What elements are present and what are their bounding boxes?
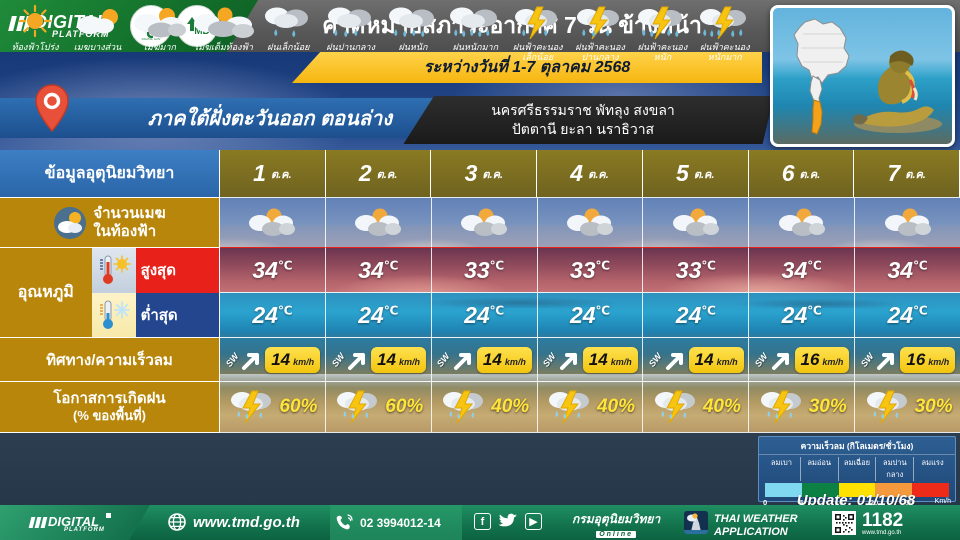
cloud-row-label: จำนวนเมฆ ในท้องฟ้า <box>0 197 220 247</box>
min-temp-value: 24℃ <box>464 302 504 329</box>
wind-direction: SW <box>859 351 876 369</box>
min-temp-value: 24℃ <box>358 302 398 329</box>
min-temperature-row: 24℃ 24℃ 24℃ 24℃ 24℃ 24℃ 24℃ <box>0 292 960 337</box>
day-month: ต.ค. <box>905 165 926 183</box>
region-photo-card <box>770 5 955 147</box>
legend-label: ฝนฟ้าคะนอง ปานกลาง <box>575 42 625 63</box>
max-temp-cells: 34℃ 34℃ 33℃ 33℃ 33℃ 34℃ 34℃ <box>220 247 960 292</box>
wind-speed-value: 14 <box>589 350 608 370</box>
cloud-label-line-1: จำนวนเมฆ <box>93 205 165 222</box>
cloud-label-text: จำนวนเมฆ ในท้องฟ้า <box>93 205 165 240</box>
rain-cell: 40% <box>643 381 749 433</box>
thai-weather-app-icon <box>684 511 708 534</box>
wind-direction: SW <box>329 351 346 369</box>
rain-probability-value: 60% <box>279 396 317 418</box>
overcast-icon <box>191 2 257 42</box>
mostly-cloudy-icon <box>243 206 301 240</box>
legend-item: เมฆเต็มท้องฟ้า <box>191 2 257 70</box>
min-temp-value: 24℃ <box>676 302 716 329</box>
min-temp-value: 24℃ <box>782 302 822 329</box>
thunderstorm-icon <box>545 386 595 428</box>
location-pin-icon <box>34 84 70 132</box>
wind-speed-unit: km/h <box>822 357 843 367</box>
footer-brand-square-icon <box>106 513 111 518</box>
mostly-cloudy-icon <box>879 206 937 240</box>
legend-item: ฝนหนัก <box>382 2 444 70</box>
globe-icon <box>168 513 186 531</box>
very-heavy-thunderstorm-icon <box>695 2 755 42</box>
sun-icon <box>15 2 55 42</box>
day-month: ต.ค. <box>588 165 609 183</box>
legend-label: ฝนปานกลาง <box>326 42 375 52</box>
wind-speed-value: 16 <box>801 350 820 370</box>
wind-arrow-icon <box>346 348 370 372</box>
wind-speed-value: 14 <box>483 350 502 370</box>
phone-icon <box>334 513 354 533</box>
day-header-cell: 4 ต.ค. <box>537 150 643 197</box>
day-number: 7 <box>887 160 900 187</box>
footer-hotline-number: 1182 <box>862 511 903 530</box>
wind-scale-category: ลมเฉื่อย <box>839 457 877 481</box>
legend-label: ฝนฟ้าคะนอง เล็กน้อย <box>513 42 563 63</box>
wind-arrow-icon <box>664 348 688 372</box>
twitter-icon[interactable] <box>498 513 518 530</box>
wind-arrow-icon <box>770 348 794 372</box>
cloud-cell <box>432 197 538 247</box>
wind-cell: SW 14km/h <box>326 337 432 381</box>
footer-hotline: 1182 www.tmd.go.th <box>862 511 903 536</box>
mostly-cloudy-icon <box>349 206 407 240</box>
footer-phone-text: 02 3994012-14 <box>360 516 441 530</box>
partly-cloudy-icon <box>70 2 126 42</box>
wind-row: ทิศทาง/ความเร็วลม SW 14km/h SW 14km/h SW… <box>0 337 960 381</box>
legend-item: ฝนฟ้าคะนอง หนักมาก <box>694 2 756 70</box>
youtube-icon[interactable]: ▶ <box>525 513 542 530</box>
max-temp-cell: 33℃ <box>538 247 644 292</box>
legend-label: ฝนฟ้าคะนอง หนักมาก <box>700 42 750 63</box>
wind-speed-pill: 14km/h <box>371 347 426 373</box>
wind-speed-unit: km/h <box>717 357 738 367</box>
legend-label: ท้องฟ้าโปร่ง <box>12 42 59 52</box>
cloud-cell <box>326 197 432 247</box>
rain-probability-value: 30% <box>915 396 953 418</box>
light-rain-icon <box>260 2 316 42</box>
wind-direction: SW <box>224 351 241 369</box>
max-temp-value: 34℃ <box>252 257 292 284</box>
provinces-line-2: ปัตตานี ยะลา นราธิวาส <box>512 120 654 139</box>
rain-cell: 60% <box>220 381 326 433</box>
wind-cell: SW 14km/h <box>643 337 749 381</box>
legend-label: เมฆเต็มท้องฟ้า <box>195 42 253 52</box>
footer-department-name: กรมอุตุนิยมวิทยา <box>572 513 660 526</box>
day-number: 2 <box>359 160 372 187</box>
rain-label-line-2: (% ของพื้นที่) <box>73 408 146 424</box>
wind-speed-pill: 14km/h <box>583 347 638 373</box>
day-month: ต.ค. <box>271 165 292 183</box>
weather-forecast-infographic: DIGITAL PLATFORM DIGITAL GOV MD คาดหมายส <box>0 0 960 540</box>
mostly-cloudy-icon <box>773 206 831 240</box>
rain-probability-value: 40% <box>703 396 741 418</box>
thunderstorm-icon <box>757 386 807 428</box>
max-temp-value: 33℃ <box>464 257 504 284</box>
wind-direction: SW <box>541 351 558 369</box>
min-temp-cell: 24℃ <box>643 292 749 337</box>
wind-direction: SW <box>647 351 664 369</box>
wind-arrow-icon <box>558 348 582 372</box>
wind-speed-unit: km/h <box>293 357 314 367</box>
rain-cell: 40% <box>538 381 644 433</box>
mostly-cloudy-icon <box>667 206 725 240</box>
legend-item: ฝนฟ้าคะนอง ปานกลาง <box>569 2 631 70</box>
table-corner-label: ข้อมูลอุตุนิยมวิทยา <box>0 150 220 197</box>
forecast-table: ข้อมูลอุตุนิยมวิทยา 1 ต.ค. 2 ต.ค. 3 ต.ค.… <box>0 150 960 433</box>
facebook-icon[interactable]: f <box>474 513 491 530</box>
wind-cell: SW 16km/h <box>749 337 855 381</box>
rain-cell: 30% <box>855 381 960 433</box>
day-month: ต.ค. <box>694 165 715 183</box>
thunderstorm-icon <box>439 386 489 428</box>
wind-speed-pill: 14km/h <box>689 347 744 373</box>
rain-cells: 60% 60% 40% <box>220 381 960 433</box>
wind-speed-value: 14 <box>695 350 714 370</box>
day-month: ต.ค. <box>800 165 821 183</box>
max-temp-value: 34℃ <box>358 257 398 284</box>
rain-probability-value: 40% <box>491 396 529 418</box>
min-temp-cell: 24℃ <box>749 292 855 337</box>
day-header-cell: 6 ต.ค. <box>749 150 855 197</box>
wind-scale-category: ลมเบา <box>763 457 801 481</box>
wind-cell: SW 16km/h <box>855 337 960 381</box>
mostly-cloudy-icon <box>129 2 191 42</box>
legend-label: ฝนเล็กน้อย <box>267 42 309 52</box>
wind-speed-pill: 16km/h <box>900 347 955 373</box>
wind-row-label: ทิศทาง/ความเร็วลม <box>0 337 220 381</box>
cloud-cell <box>220 197 326 247</box>
provinces-list: นครศรีธรรมราช พัทลุง สงขลา ปัตตานี ยะลา … <box>392 96 774 144</box>
wind-scale-categories: ลมเบา ลมอ่อน ลมเฉื่อย ลมปานกลาง ลมแรง <box>759 455 955 481</box>
wind-cells: SW 14km/h SW 14km/h SW 14km/h SW <box>220 337 960 381</box>
footer-department: กรมอุตุนิยมวิทยา Online <box>572 513 660 538</box>
cloud-row: จำนวนเมฆ ในท้องฟ้า <box>0 197 960 247</box>
table-header-row: ข้อมูลอุตุนิยมวิทยา 1 ต.ค. 2 ต.ค. 3 ต.ค.… <box>0 150 960 197</box>
wind-speed-value: 14 <box>377 350 396 370</box>
max-temp-cell: 34℃ <box>855 247 960 292</box>
rain-probability-value: 30% <box>809 396 847 418</box>
min-temp-cell: 24℃ <box>326 292 432 337</box>
wind-speed-pill: 14km/h <box>265 347 320 373</box>
day-number: 1 <box>253 160 266 187</box>
wind-cell: SW 14km/h <box>538 337 644 381</box>
day-header-cell: 3 ต.ค. <box>431 150 537 197</box>
cloud-label-line-2: ในท้องฟ้า <box>93 223 165 240</box>
rain-cell: 40% <box>432 381 538 433</box>
wind-direction: SW <box>435 351 452 369</box>
footer-brand-secondary: PLATFORM <box>64 527 105 533</box>
thunderstorm-icon <box>863 386 913 428</box>
wind-scale-title: ความเร็วลม (กิโลเมตร/ชั่วโมง) <box>759 437 955 455</box>
max-temp-value: 33℃ <box>570 257 610 284</box>
provinces-line-1: นครศรีธรรมราช พัทลุง สงขลา <box>491 101 675 120</box>
cloud-cells <box>220 197 960 247</box>
day-month: ต.ค. <box>377 165 398 183</box>
qr-code-icon <box>832 511 856 535</box>
legend-label: เมฆบางส่วน <box>74 42 122 52</box>
day-header-cell: 5 ต.ค. <box>643 150 749 197</box>
cloud-cell <box>855 197 960 247</box>
footer-website[interactable]: www.tmd.go.th <box>168 513 300 531</box>
thunderstorm-icon <box>651 386 701 428</box>
mostly-cloudy-icon <box>455 206 513 240</box>
thunderstorm-icon <box>333 386 383 428</box>
min-temp-cells: 24℃ 24℃ 24℃ 24℃ 24℃ 24℃ 24℃ <box>220 292 960 337</box>
day-month: ต.ค. <box>482 165 503 183</box>
wind-speed-unit: km/h <box>928 357 949 367</box>
wind-speed-pill: 16km/h <box>795 347 850 373</box>
day-header-cell: 7 ต.ค. <box>854 150 960 197</box>
footer-website-text: www.tmd.go.th <box>193 514 300 531</box>
wind-cell: SW 14km/h <box>220 337 326 381</box>
max-temp-cell: 33℃ <box>643 247 749 292</box>
max-temperature-row: 34℃ 34℃ 33℃ 33℃ 33℃ 34℃ 34℃ <box>0 247 960 292</box>
wind-speed-unit: km/h <box>611 357 632 367</box>
rain-probability-row: โอกาสการเกิดฝน (% ของพื้นที่) 60% <box>0 381 960 433</box>
footer-app-line-2: APPLICATION <box>714 526 798 539</box>
legend-label: เมฆมาก <box>144 42 176 52</box>
legend-label: ฝนหนักมาก <box>453 42 498 52</box>
day-number: 6 <box>782 160 795 187</box>
legend-item: เมฆบางส่วน <box>66 2 128 70</box>
min-temp-cell: 24℃ <box>855 292 960 337</box>
min-temp-cell: 24℃ <box>220 292 326 337</box>
max-temp-cell: 33℃ <box>432 247 538 292</box>
wind-speed-unit: km/h <box>505 357 526 367</box>
min-temp-value: 24℃ <box>252 302 292 329</box>
thunderstorm-icon <box>227 386 277 428</box>
footer-bar: DIGITAL PLATFORM www.tmd.go.th 02 399401… <box>0 505 960 540</box>
cloud-cell <box>538 197 644 247</box>
heavy-rain-icon <box>384 2 442 42</box>
wind-speed-pill: 14km/h <box>477 347 532 373</box>
legend-item: ฝนปานกลาง <box>319 2 381 70</box>
day-number: 3 <box>465 160 478 187</box>
footer-social-links: f ▶ <box>474 513 542 530</box>
day-number: 4 <box>570 160 583 187</box>
footer-hotline-site: www.tmd.go.th <box>862 530 903 536</box>
heavy-thunderstorm-icon <box>633 2 691 42</box>
legend-item: ฝนฟ้าคะนอง หนัก <box>631 2 693 70</box>
wind-direction: SW <box>753 351 770 369</box>
rain-row-label: โอกาสการเกิดฝน (% ของพื้นที่) <box>0 381 220 433</box>
legend-item: ฝนหนักมาก <box>444 2 506 70</box>
legend-item: ท้องฟ้าโปร่ง <box>4 2 66 70</box>
min-temp-cell: 24℃ <box>538 292 644 337</box>
wind-speed-value: 16 <box>906 350 925 370</box>
rain-label-line-1: โอกาสการเกิดฝน <box>53 390 165 408</box>
rain-cell: 30% <box>749 381 855 433</box>
max-temp-cell: 34℃ <box>749 247 855 292</box>
partly-cloudy-icon <box>53 206 87 240</box>
day-number: 5 <box>676 160 689 187</box>
footer-bars-icon <box>30 517 46 528</box>
min-temp-value: 24℃ <box>570 302 610 329</box>
legend-label: ฝนหนัก <box>398 42 427 52</box>
rain-cell: 60% <box>326 381 432 433</box>
legend-item: ฝนฟ้าคะนอง เล็กน้อย <box>507 2 569 70</box>
max-temp-value: 34℃ <box>782 257 822 284</box>
rain-probability-value: 40% <box>597 396 635 418</box>
wind-arrow-icon <box>452 348 476 372</box>
day-headers: 1 ต.ค. 2 ต.ค. 3 ต.ค. 4 ต.ค. 5 ต.ค. <box>220 150 960 197</box>
min-temp-cell: 24℃ <box>432 292 538 337</box>
very-heavy-rain-icon <box>445 2 505 42</box>
max-temp-value: 34℃ <box>888 257 928 284</box>
min-temp-value: 24℃ <box>888 302 928 329</box>
cloud-cell <box>749 197 855 247</box>
legend-label: ฝนฟ้าคะนอง หนัก <box>638 42 688 63</box>
max-temp-cell: 34℃ <box>326 247 432 292</box>
wind-scale-category: ลมแรง <box>914 457 951 481</box>
wind-speed-value: 14 <box>271 350 290 370</box>
rain-probability-value: 60% <box>385 396 423 418</box>
footer-phone[interactable]: 02 3994012-14 <box>330 505 462 540</box>
golden-mermaid-statue <box>848 36 944 136</box>
day-header-cell: 2 ต.ค. <box>326 150 432 197</box>
wind-scale-category: ลมอ่อน <box>801 457 839 481</box>
max-temp-value: 33℃ <box>676 257 716 284</box>
footer-online-badge: Online <box>596 531 636 538</box>
wind-cell: SW 14km/h <box>432 337 538 381</box>
moderate-thunderstorm-icon <box>572 2 628 42</box>
footer-app-name: THAI WEATHER APPLICATION <box>714 513 798 538</box>
mostly-cloudy-icon <box>561 206 619 240</box>
wind-scale-category: ลมปานกลาง <box>876 457 914 481</box>
moderate-rain-icon <box>323 2 379 42</box>
wind-arrow-icon <box>240 348 264 372</box>
day-header-cell: 1 ต.ค. <box>220 150 326 197</box>
legend-icon-list: ท้องฟ้าโปร่ง เมฆบางส่วน เมฆมาก เมฆเ <box>4 2 756 70</box>
legend-item: เมฆมาก <box>129 2 191 70</box>
wind-arrow-icon <box>875 348 899 372</box>
light-thunderstorm-icon <box>510 2 566 42</box>
cloud-cell <box>643 197 749 247</box>
wind-speed-unit: km/h <box>399 357 420 367</box>
footer-app-line-1: THAI WEATHER <box>714 513 798 526</box>
max-temp-cell: 34℃ <box>220 247 326 292</box>
legend-item: ฝนเล็กน้อย <box>257 2 319 70</box>
